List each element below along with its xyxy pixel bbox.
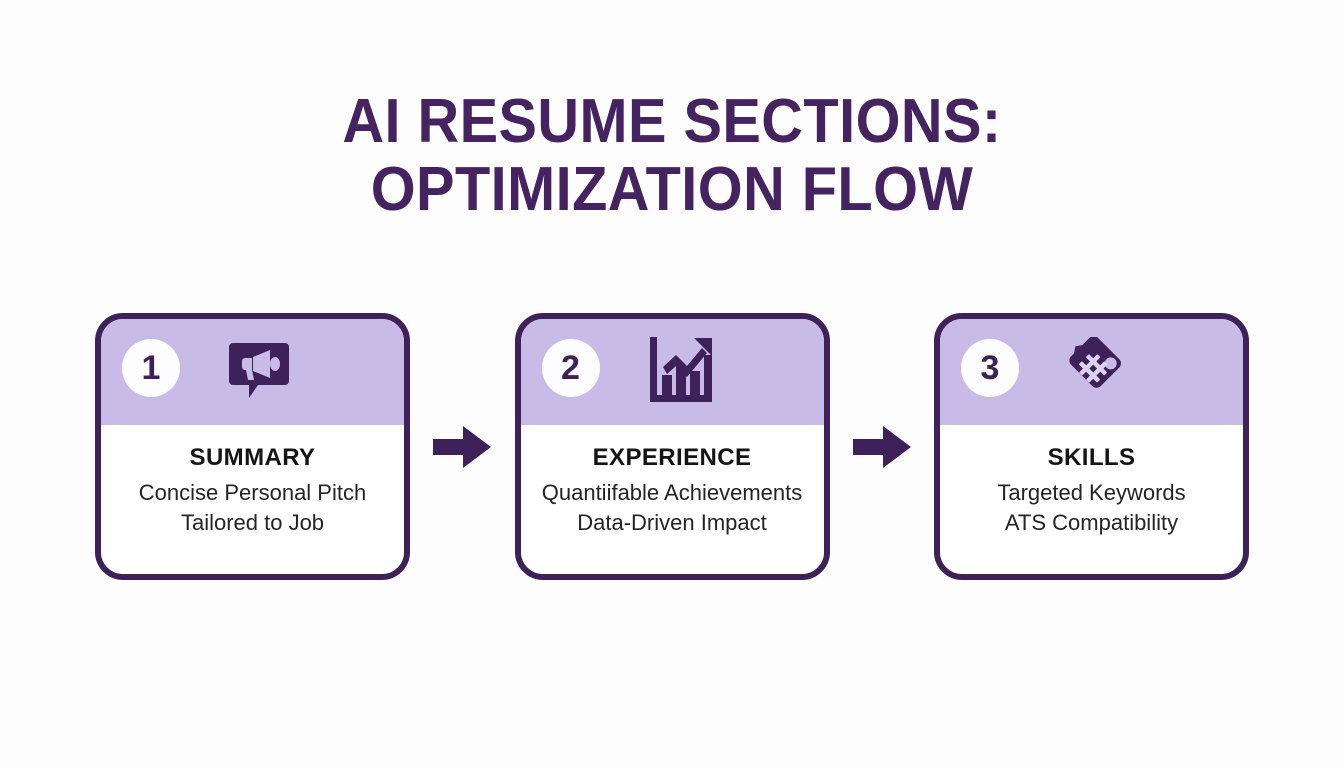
card-header-summary: 1 (101, 319, 404, 425)
arrow-right-icon (853, 426, 911, 468)
step-number-badge-2: 2 (542, 339, 600, 397)
arrow-right-icon (433, 426, 491, 468)
card-detail-line-1-skills: Targeted Keywords (940, 478, 1243, 508)
page-title: AI RESUME SECTIONS: OPTIMIZATION FLOW (0, 88, 1344, 224)
card-body-summary: SUMMARY Concise Personal Pitch Tailored … (101, 425, 404, 574)
step-number-label-1: 1 (142, 351, 161, 385)
flow-step-card-skills[interactable]: 3 SKILLS (934, 313, 1249, 580)
flow-connector-2 (851, 313, 913, 580)
bar-chart-growth-icon (646, 335, 712, 403)
card-detail-line-1-experience: Quantiifable Achievements (521, 478, 824, 508)
page-title-line-1: AI RESUME SECTIONS: (47, 88, 1297, 156)
card-title-skills: SKILLS (940, 444, 1243, 472)
step-number-label-2: 2 (561, 351, 580, 385)
flow-step-card-experience[interactable]: 2 EXPERIENCE Quantiifable Achievements D… (515, 313, 830, 580)
card-header-experience: 2 (521, 319, 824, 425)
page-title-line-2: OPTIMIZATION FLOW (47, 156, 1297, 224)
step-number-label-3: 3 (981, 351, 1000, 385)
card-detail-line-2-experience: Data-Driven Impact (521, 508, 824, 538)
step-number-badge-1: 1 (122, 339, 180, 397)
step-number-badge-3: 3 (961, 339, 1019, 397)
card-title-summary: SUMMARY (101, 444, 404, 472)
card-header-skills: 3 (940, 319, 1243, 425)
optimization-flow-diagram: 1 SUMMARY Concise Personal Pitch Tailore… (95, 313, 1249, 583)
megaphone-announcement-icon (226, 335, 292, 403)
card-body-skills: SKILLS Targeted Keywords ATS Compatibili… (940, 425, 1243, 574)
card-detail-line-2-skills: ATS Compatibility (940, 508, 1243, 538)
flow-step-card-summary[interactable]: 1 SUMMARY Concise Personal Pitch Tailore… (95, 313, 410, 580)
card-detail-line-2-summary: Tailored to Job (101, 508, 404, 538)
card-detail-line-1-summary: Concise Personal Pitch (101, 478, 404, 508)
flow-connector-1 (431, 313, 493, 580)
tag-hashtag-icon (1065, 335, 1131, 403)
card-title-experience: EXPERIENCE (521, 444, 824, 472)
card-body-experience: EXPERIENCE Quantiifable Achievements Dat… (521, 425, 824, 574)
